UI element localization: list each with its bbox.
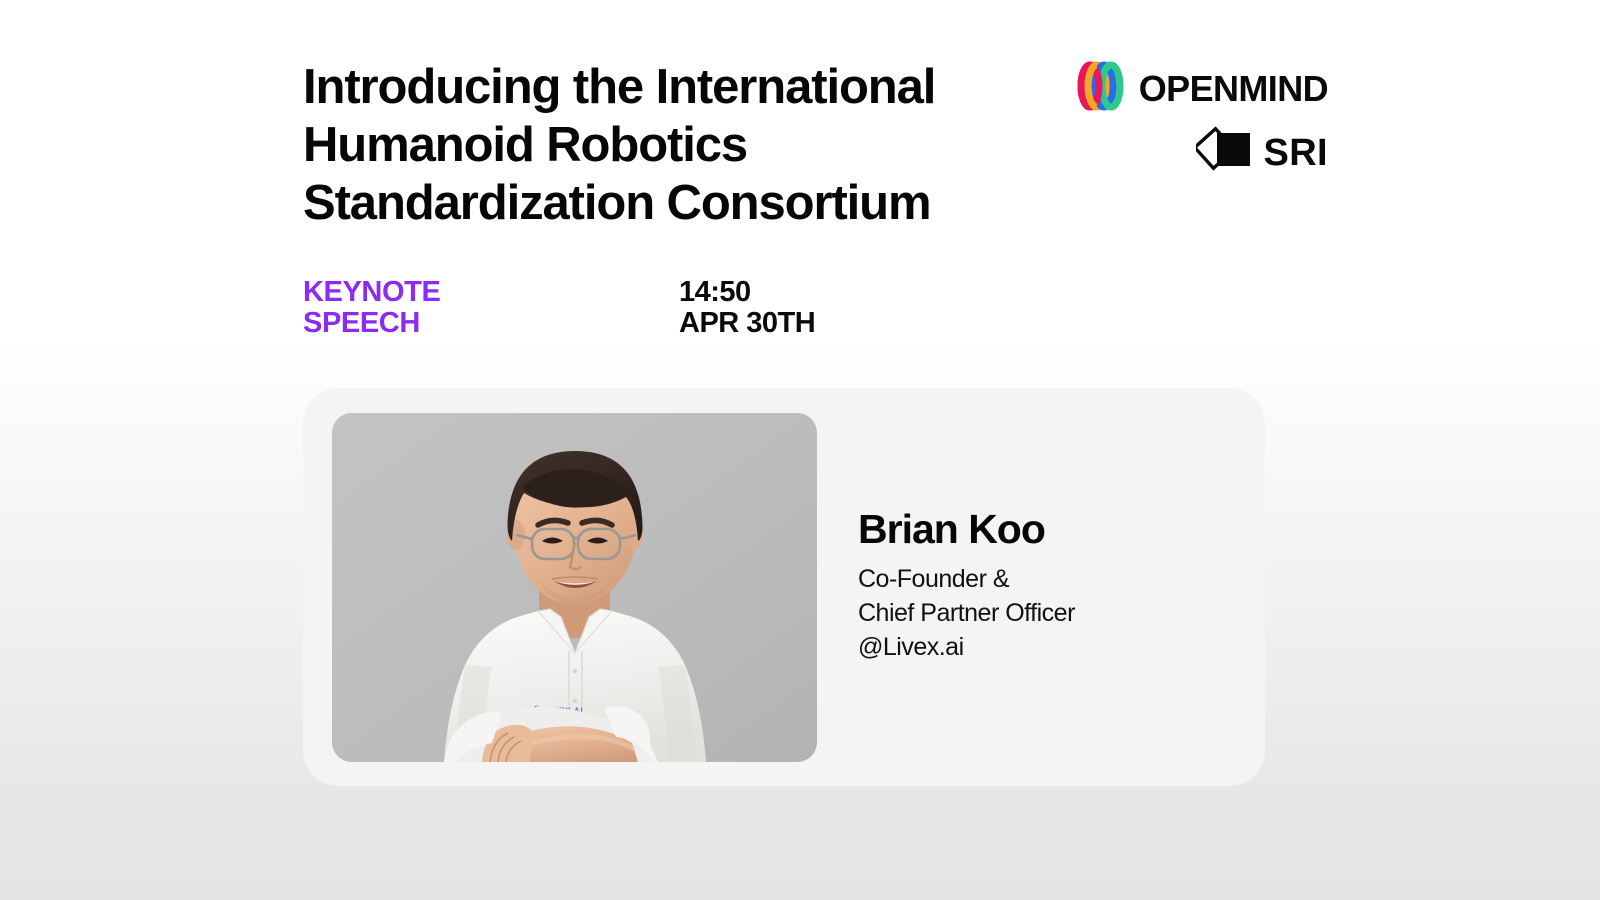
sri-wordmark: SRI: [1263, 134, 1328, 172]
speaker-card: LIVEX.AI: [303, 388, 1265, 786]
session-type-label: KEYNOTE SPEECH: [303, 277, 679, 339]
openmind-rings-icon: [1074, 60, 1128, 117]
speaker-avatar: LIVEX.AI: [332, 413, 817, 762]
openmind-wordmark: OPENMIND: [1139, 71, 1328, 107]
speaker-title-line-2: Chief Partner Officer: [858, 596, 1265, 630]
speaker-title-line-1: Co-Founder &: [858, 562, 1265, 596]
sri-diamond-square-icon: [1196, 125, 1254, 180]
session-meta-row: KEYNOTE SPEECH 14:50 APR 30TH: [303, 277, 815, 339]
speaker-info: Brian Koo Co-Founder & Chief Partner Off…: [858, 506, 1265, 668]
openmind-logo: OPENMIND: [1074, 60, 1328, 117]
session-time-label: 14:50 APR 30TH: [679, 277, 815, 339]
logo-stack: OPENMIND SRI: [1088, 60, 1328, 180]
speaker-handle: @Livex.ai: [858, 630, 1265, 664]
sri-logo: SRI: [1196, 125, 1328, 180]
page-title: Introducing the International Humanoid R…: [303, 58, 1063, 232]
speaker-name: Brian Koo: [858, 506, 1265, 553]
